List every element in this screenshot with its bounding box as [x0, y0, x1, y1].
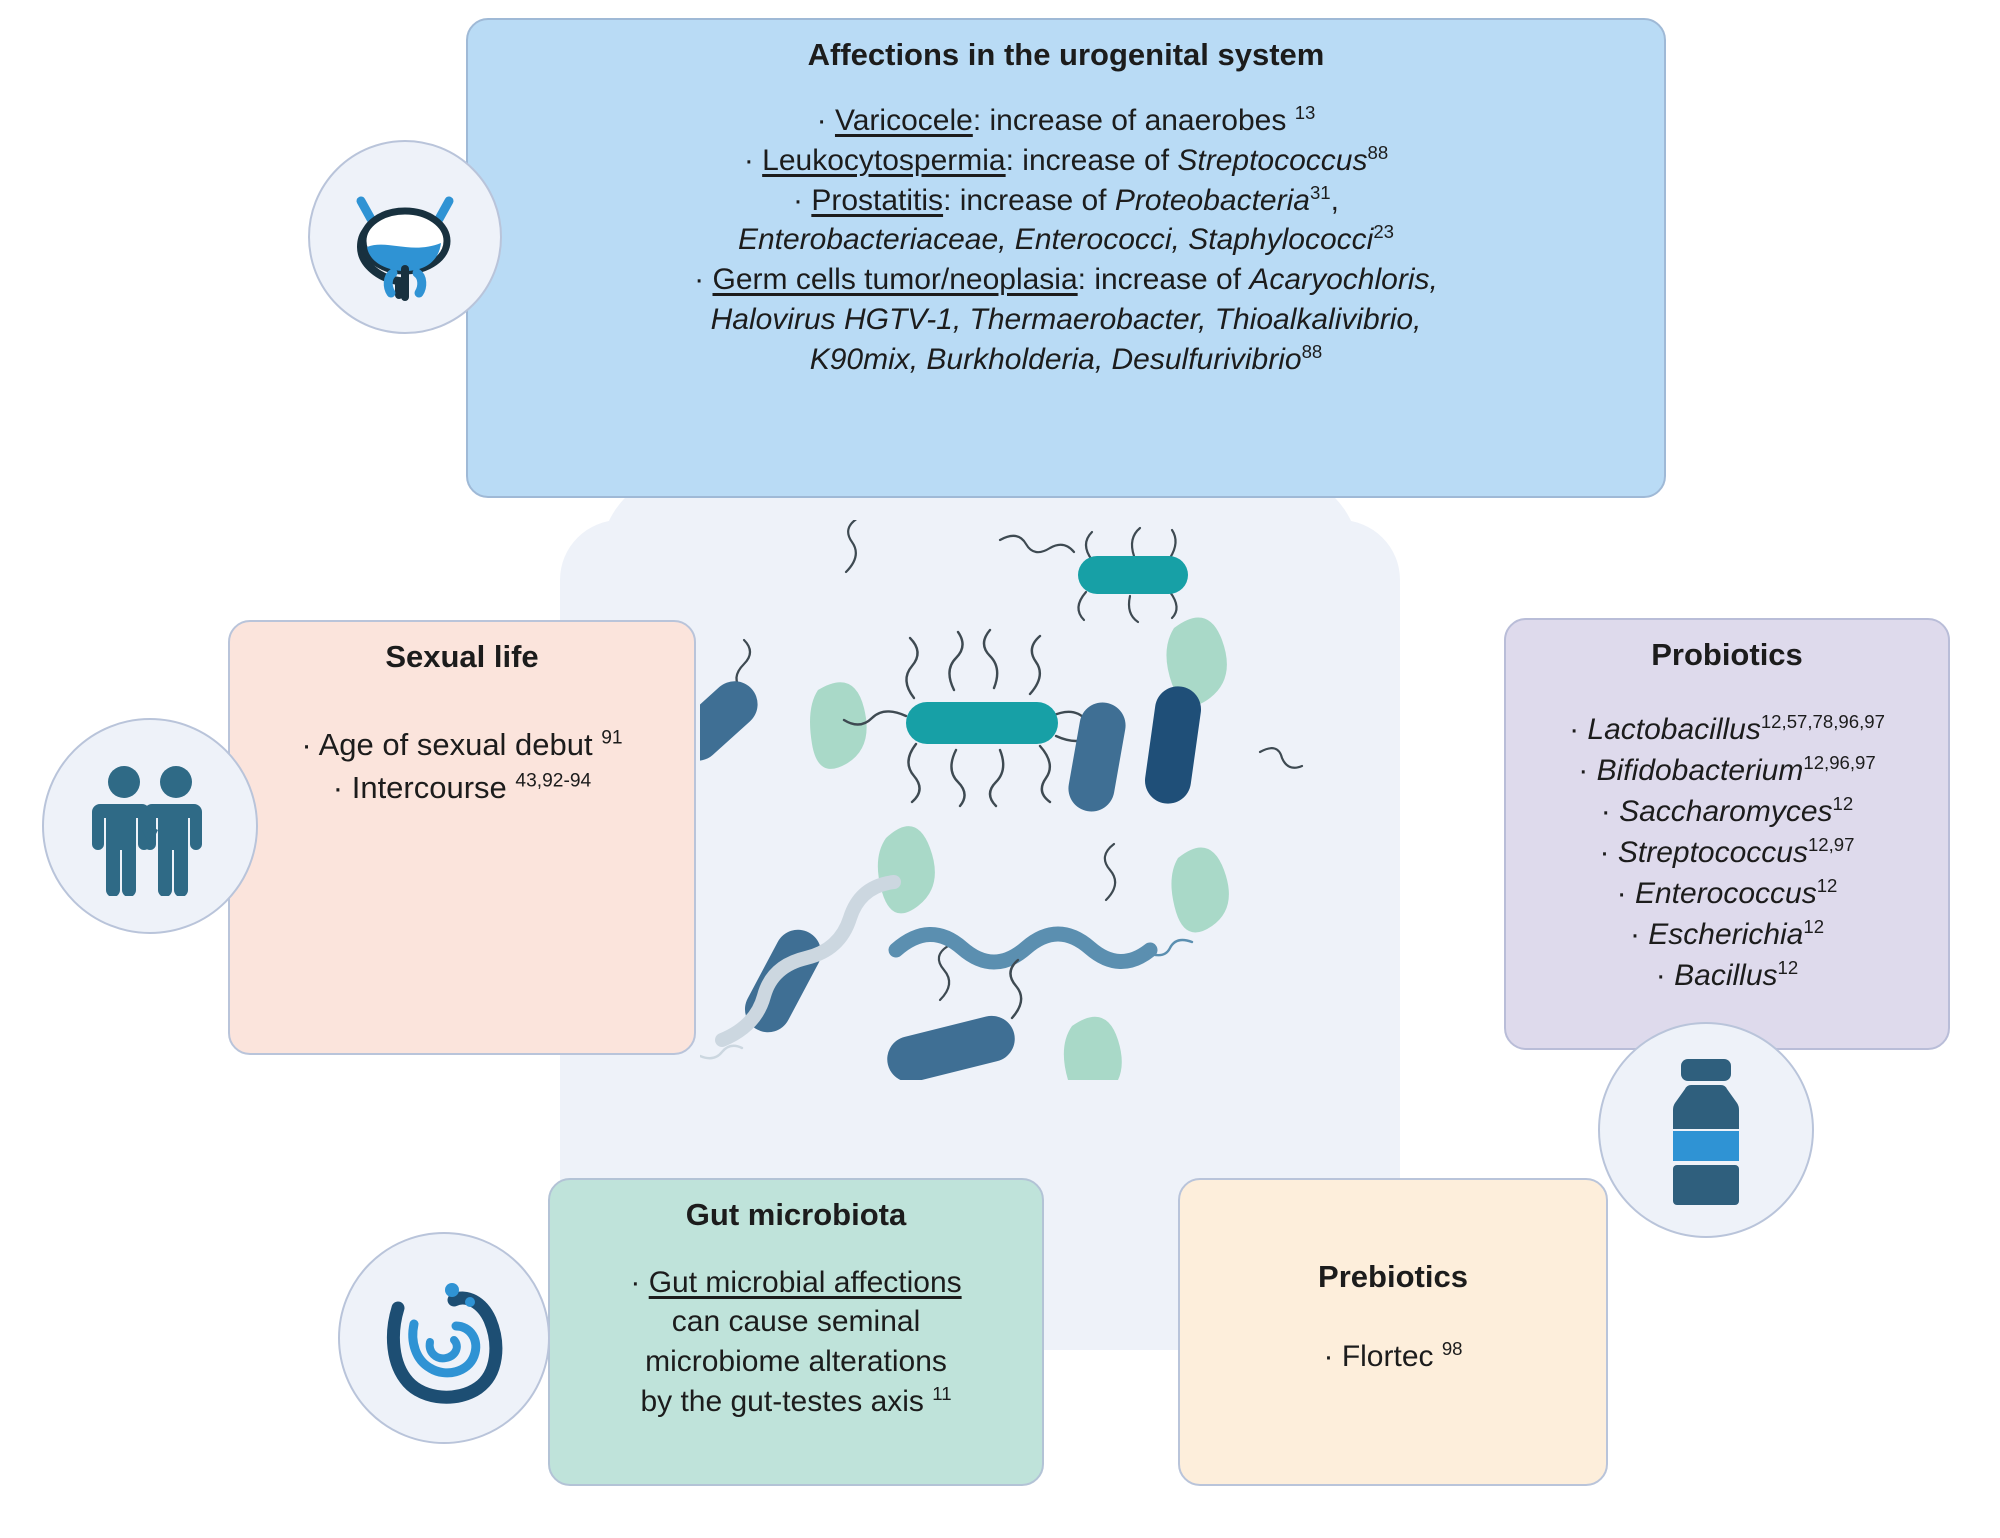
line-gut-4: by the gut-testes axis 11: [572, 1382, 1020, 1422]
list-item: · Bacillus12: [1528, 955, 1926, 996]
panel-body-urogenital: · Varicocele: increase of anaerobes 13 ·…: [490, 101, 1642, 380]
citation: 12: [1833, 793, 1854, 814]
citation: 12,57,78,96,97: [1761, 711, 1885, 732]
term-gut-microbial-affections: Gut microbial affections: [649, 1266, 962, 1299]
taxon: Streptococcus: [1177, 144, 1367, 177]
text: by the gut-testes axis: [640, 1385, 932, 1418]
bullet: ·: [744, 144, 754, 177]
line-gut-3: microbiome alterations: [572, 1342, 1020, 1382]
item-label: Flortec: [1342, 1340, 1442, 1373]
bacterium-spirochete-blue: [896, 934, 1192, 962]
taxon: Saccharomyces: [1619, 795, 1832, 828]
panel-affections-urogenital-system: Affections in the urogenital system · Va…: [466, 18, 1666, 498]
panel-body-probiotics: · Lactobacillus12,57,78,96,97 · Bifidoba…: [1528, 709, 1926, 997]
list-item: · Escherichia12: [1528, 914, 1926, 955]
line-leukocytospermia: · Leukocytospermia: increase of Streptoc…: [490, 141, 1642, 181]
citation: 88: [1302, 341, 1323, 362]
bullet: ·: [793, 184, 803, 217]
panel-title-probiotics: Probiotics: [1528, 636, 1926, 675]
intestine-icon-bubble: [338, 1232, 550, 1444]
list-item: · Enterococcus12: [1528, 873, 1926, 914]
line-gut-2: can cause seminal: [572, 1302, 1020, 1342]
panel-gut-microbiota: Gut microbiota · Gut microbial affection…: [548, 1178, 1044, 1486]
taxon: Acaryochloris,: [1249, 263, 1437, 296]
line-intercourse: · Intercourse 43,92-94: [252, 766, 672, 809]
taxon: Streptococcus: [1618, 836, 1808, 869]
list-item: · Lactobacillus12,57,78,96,97: [1528, 709, 1926, 750]
citation: 12,96,97: [1803, 752, 1875, 773]
panel-title-prebiotics: Prebiotics: [1202, 1258, 1584, 1297]
bullet: ·: [333, 770, 343, 805]
list-item: · Saccharomyces12: [1528, 791, 1926, 832]
term-varicocele: Varicocele: [835, 104, 973, 137]
text: : increase of: [1006, 144, 1178, 177]
panel-body-sexual-life: · Age of sexual debut 91 · Intercourse 4…: [252, 723, 672, 810]
term-germ-cells-tumor: Germ cells tumor/neoplasia: [713, 263, 1078, 296]
bullet: ·: [630, 1266, 640, 1299]
citation: 98: [1442, 1338, 1463, 1359]
citation: 88: [1367, 142, 1388, 163]
text: : increase of anaerobes: [973, 104, 1295, 137]
panel-probiotics: Probiotics · Lactobacillus12,57,78,96,97…: [1504, 618, 1950, 1050]
bullet: ·: [1630, 918, 1640, 951]
line-prostatitis: · Prostatitis: increase of Proteobacteri…: [490, 181, 1642, 221]
panel-sexual-life: Sexual life · Age of sexual debut 91 · I…: [228, 620, 696, 1055]
panel-body-prebiotics: · Flortec 98: [1202, 1337, 1584, 1376]
line-tumor-taxa-1: Halovirus HGTV-1, Thermaerobacter, Thioa…: [490, 300, 1642, 340]
bullet: ·: [694, 263, 704, 296]
bacterium-rod-blue: [1065, 699, 1129, 815]
taxa-list: Enterobacteriaceae, Enterococci, Staphyl…: [738, 223, 1373, 256]
citation: 91: [601, 727, 622, 748]
citation: 13: [1295, 102, 1316, 123]
line-prostatitis-taxa: Enterobacteriaceae, Enterococci, Staphyl…: [490, 220, 1642, 260]
list-item: · Bifidobacterium12,96,97: [1528, 750, 1926, 791]
taxa-list: Halovirus HGTV-1, Thermaerobacter, Thioa…: [711, 303, 1422, 336]
panel-title-urogenital: Affections in the urogenital system: [490, 36, 1642, 75]
panel-prebiotics: Prebiotics · Flortec 98: [1178, 1178, 1608, 1486]
bullet: ·: [1617, 877, 1627, 910]
citation: 12,97: [1808, 834, 1855, 855]
taxon: Lactobacillus: [1587, 713, 1760, 746]
panel-body-gut-microbiota: · Gut microbial affections can cause sem…: [572, 1263, 1020, 1421]
line-germ-cell-tumor: · Germ cells tumor/neoplasia: increase o…: [490, 260, 1642, 300]
taxon: Enterococcus: [1635, 877, 1817, 910]
supplement-bottle-icon: [1641, 1055, 1771, 1205]
term-leukocytospermia: Leukocytospermia: [762, 144, 1005, 177]
bullet: ·: [1578, 754, 1588, 787]
bacterium-rod-teal: [1078, 528, 1188, 622]
item-label: Intercourse: [352, 770, 516, 805]
bacterium-rod-bottom: [882, 960, 1021, 1080]
intestine-icon: [374, 1268, 514, 1408]
list-item: · Streptococcus12,97: [1528, 832, 1926, 873]
text: ,: [1331, 184, 1339, 217]
supplement-bottle-icon-bubble: [1598, 1022, 1814, 1238]
bullet: ·: [817, 104, 827, 137]
taxon: Bacillus: [1674, 959, 1777, 992]
bullet: ·: [1601, 795, 1611, 828]
taxa-list: K90mix, Burkholderia, Desulfurivibrio: [810, 343, 1302, 376]
figure-canvas: Affections in the urogenital system · Va…: [0, 0, 2000, 1538]
term-prostatitis: Prostatitis: [811, 184, 943, 217]
bullet: ·: [1600, 836, 1610, 869]
bullet: ·: [1323, 1340, 1333, 1373]
citation: 12: [1817, 875, 1838, 896]
taxon: Escherichia: [1648, 918, 1803, 951]
bladder-icon-bubble: [308, 140, 502, 334]
couple-icon-bubble: [42, 718, 258, 934]
line-varicocele: · Varicocele: increase of anaerobes 13: [490, 101, 1642, 141]
bladder-icon: [341, 173, 469, 301]
couple-icon: [80, 756, 220, 896]
bacterium-rod-navy: [1142, 683, 1204, 806]
citation: 12: [1778, 957, 1799, 978]
line-gut-microbial-affections: · Gut microbial affections: [572, 1263, 1020, 1303]
line-age-of-sexual-debut: · Age of sexual debut 91: [252, 723, 672, 766]
citation: 23: [1373, 221, 1394, 242]
taxon: Proteobacteria: [1115, 184, 1310, 217]
citation: 12: [1803, 916, 1824, 937]
bullet: ·: [301, 727, 311, 762]
line-tumor-taxa-2: K90mix, Burkholderia, Desulfurivibrio88: [490, 340, 1642, 380]
panel-title-gut-microbiota: Gut microbiota: [572, 1196, 1020, 1235]
bullet: ·: [1656, 959, 1666, 992]
bullet: ·: [1569, 713, 1579, 746]
text: : increase of: [943, 184, 1115, 217]
citation: 11: [932, 1383, 951, 1404]
item-label: Age of sexual debut: [319, 727, 602, 762]
bacterium-rod: [700, 672, 767, 770]
citation: 31: [1310, 182, 1331, 203]
line-flortec: · Flortec 98: [1202, 1337, 1584, 1376]
taxon: Bifidobacterium: [1597, 754, 1804, 787]
citation: 43,92-94: [515, 771, 591, 792]
text: : increase of: [1078, 263, 1250, 296]
bacteria-illustration: [700, 520, 1320, 1080]
panel-title-sexual-life: Sexual life: [252, 638, 672, 677]
